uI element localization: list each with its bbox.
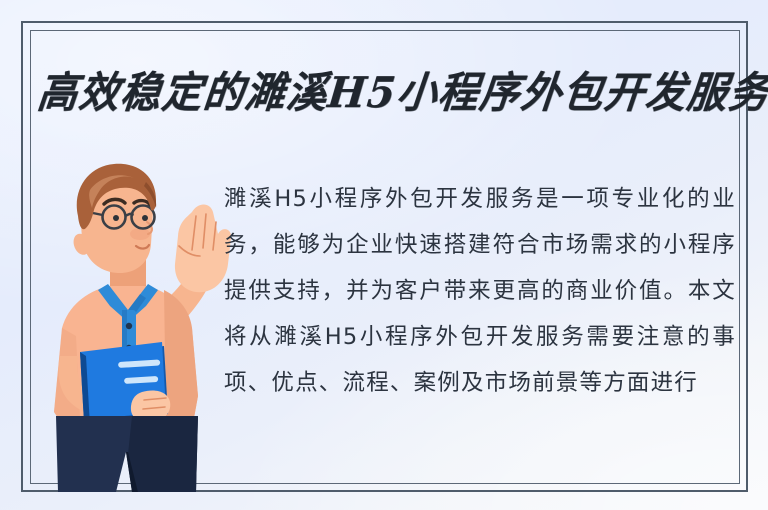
waving-hand [175, 205, 231, 293]
poster-canvas: 高效稳定的濉溪H5小程序外包开发服务 [0, 0, 768, 510]
poster-body-text: 濉溪H5小程序外包开发服务是一项专业化的业务，能够为企业快速搭建符合市场需求的小… [224, 176, 736, 406]
character-illustration [46, 160, 232, 492]
trousers [56, 416, 198, 492]
poster-title: 高效稳定的濉溪H5小程序外包开发服务 [35, 56, 742, 122]
